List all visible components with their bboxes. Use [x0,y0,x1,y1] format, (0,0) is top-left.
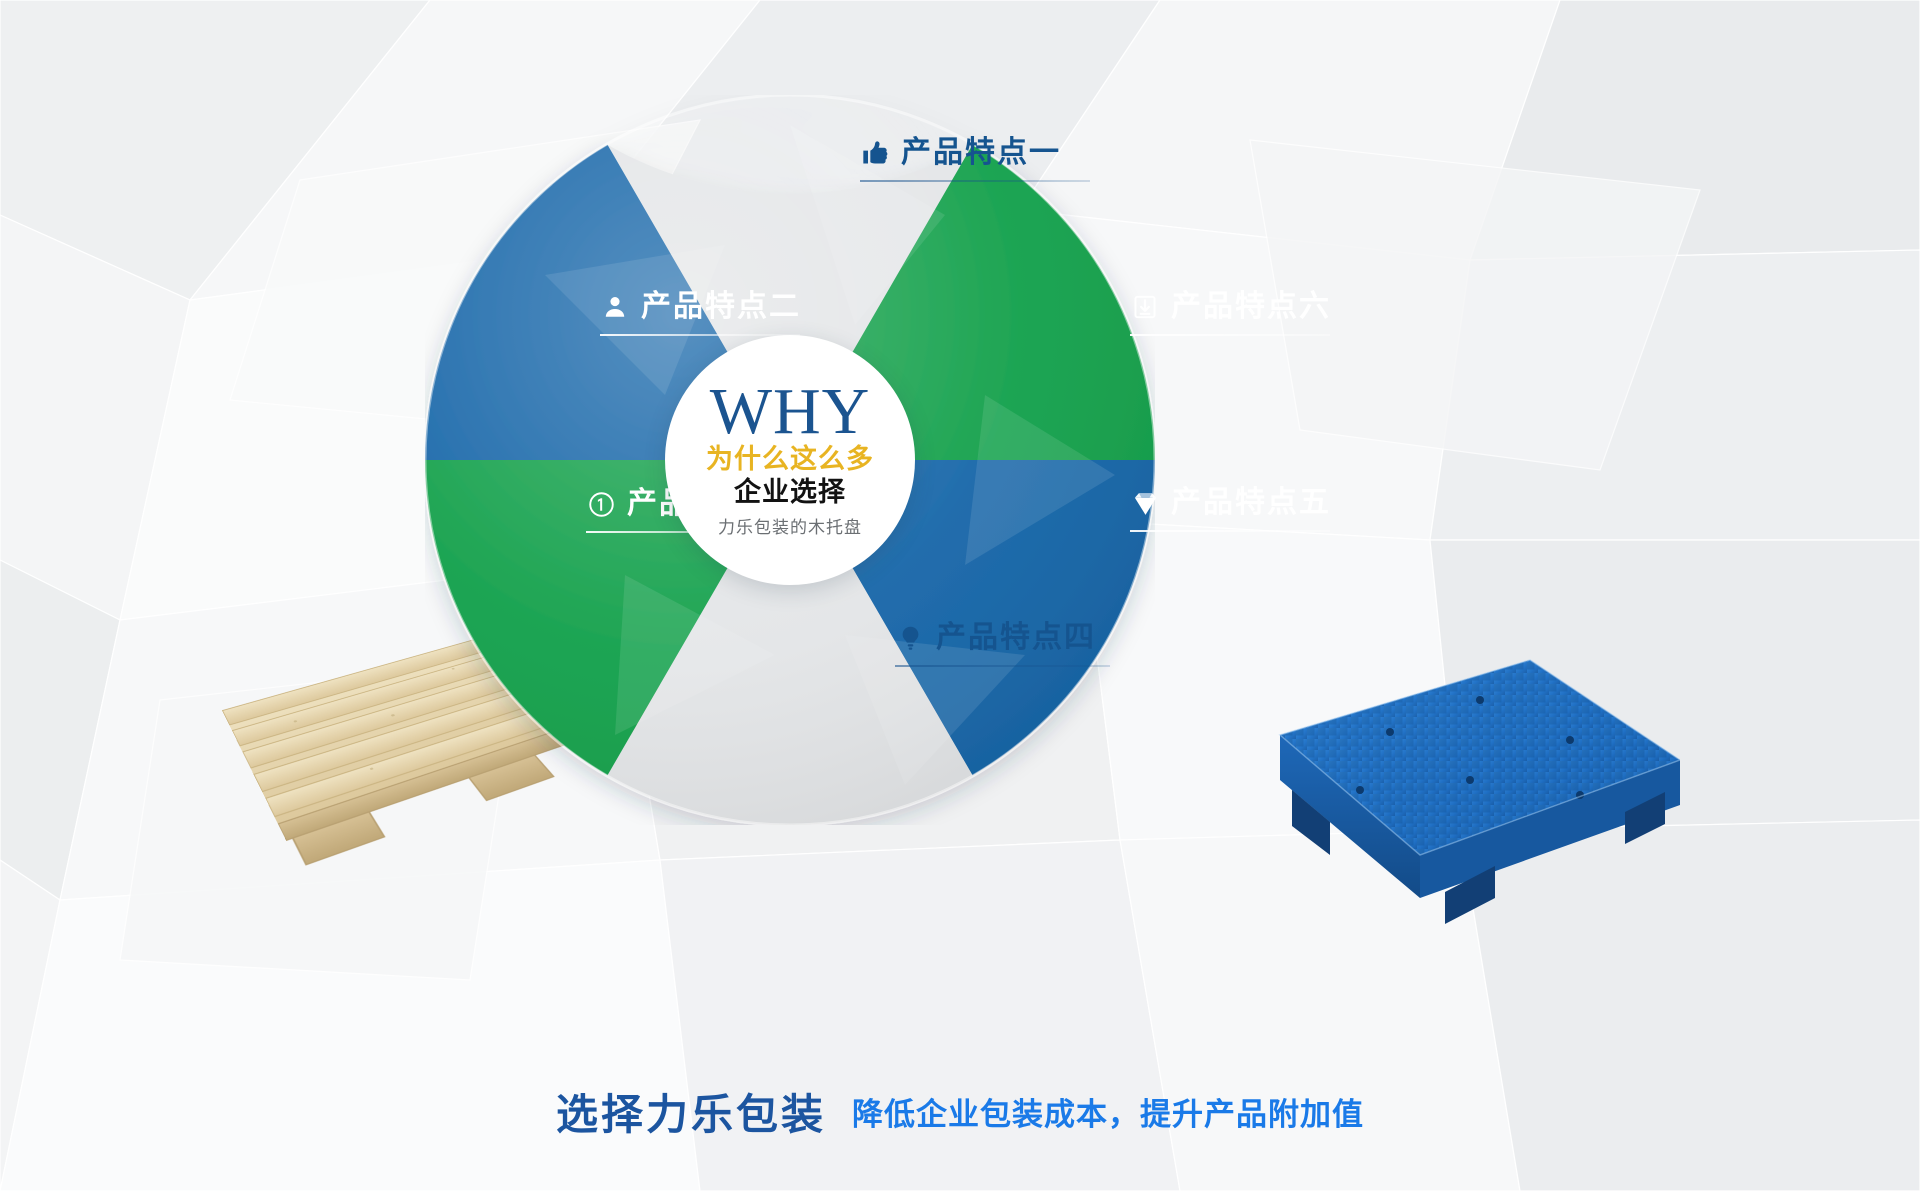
segment-label-six-text: 产品特点六 [1171,292,1331,322]
segment-label-four[interactable]: 产品特点四 [895,623,1110,667]
segment-label-four-text: 产品特点四 [936,623,1096,653]
segment-label-one-text: 产品特点一 [901,138,1061,168]
thumbs-up-icon [860,138,890,168]
segment-label-five-text: 产品特点五 [1171,488,1331,518]
plastic-pallet [1230,640,1680,940]
banner-sub-text: 降低企业包装成本，提升产品附加值 [852,1089,1364,1134]
segment-label-six[interactable]: 产品特点六 [1130,292,1330,336]
center-hub: WHY 为什么这么多 企业选择 力乐包装的木托盘 [665,335,915,585]
segment-four-underline [895,665,1110,667]
infographic-banner: EPAL [0,0,1920,1191]
user-icon [600,292,630,322]
hub-black-line: 企业选择 [734,476,846,510]
hub-gray-line: 力乐包装的木托盘 [718,513,862,538]
segment-five-underline [1130,530,1330,532]
lightbulb-icon [895,623,925,653]
segment-label-five[interactable]: 产品特点五 [1130,488,1330,532]
diamond-icon [1130,488,1160,518]
hub-gold-line: 为什么这么多 [706,444,874,475]
segment-one-underline [860,180,1090,182]
hub-why-title: WHY [710,382,871,443]
segment-six-underline [1130,334,1330,336]
segment-label-one[interactable]: 产品特点一 [860,138,1090,182]
segment-label-two[interactable]: 产品特点二 [600,292,800,336]
plastic-pallet-graphic [1230,640,1680,940]
circled-one-icon [586,489,616,519]
banner-main-text: 选择力乐包装 [556,1081,826,1142]
segment-label-two-text: 产品特点二 [641,292,801,322]
bottom-banner: 选择力乐包装 降低企业包装成本，提升产品附加值 [0,1031,1920,1191]
download-box-icon [1130,292,1160,322]
